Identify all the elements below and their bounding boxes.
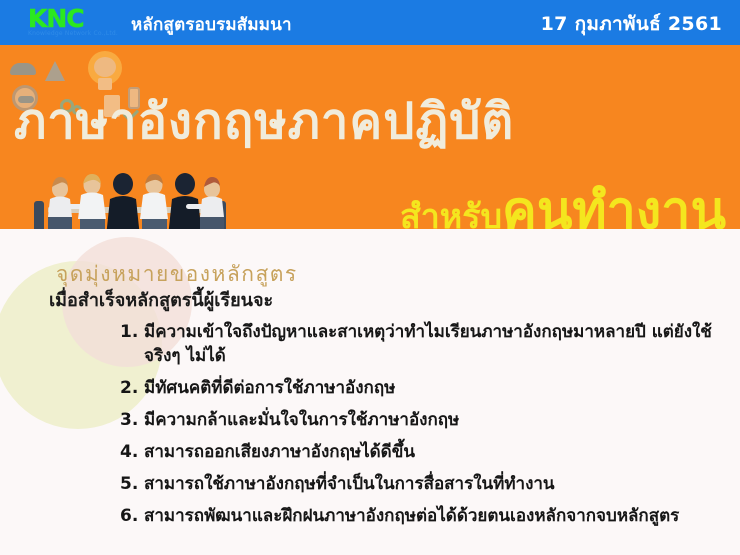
business-meeting-illustration [30,163,240,229]
objective-text: มีความกล้าและมั่นใจในการใช้ภาษาอังกฤษ [144,408,732,432]
lightbulb-brain-icon [94,57,116,77]
title-banner: ภาษาอังกฤษภาคปฏิบัติ [0,45,740,229]
objective-number: 6. [120,504,144,528]
header-bar: KNC Knowledge Network Co.,Ltd. หลักสูตรอ… [0,0,740,45]
banner-title: ภาษาอังกฤษภาคปฏิบัติ [14,97,726,146]
objective-text: มีทัศนคติที่ดีต่อการใช้ภาษาอังกฤษ [144,376,732,400]
slide-page: KNC Knowledge Network Co.,Ltd. หลักสูตรอ… [0,0,740,555]
lightbulb-base-icon [98,78,112,90]
objective-number: 3. [120,408,144,432]
logo-subtext: Knowledge Network Co.,Ltd. [28,30,120,38]
header-course-label: หลักสูตรอบรมสัมมนา [131,11,292,38]
objective-text: สามารถพัฒนาและฝึกฝนภาษาอังกฤษต่อได้ด้วยต… [144,504,732,528]
objective-item: 3.มีความกล้าและมั่นใจในการใช้ภาษาอังกฤษ [120,408,732,432]
banner-subtitle-big: คนทำงาน [502,185,726,229]
knc-logo[interactable]: KNC Knowledge Network Co.,Ltd. [28,6,120,40]
objective-number: 4. [120,440,144,464]
objective-item: 6.สามารถพัฒนาและฝึกฝนภาษาอังกฤษต่อได้ด้ว… [120,504,732,528]
objective-item: 4.สามารถออกเสียงภาษาอังกฤษได้ดีขึ้น [120,440,732,464]
objective-item: 2.มีทัศนคติที่ดีต่อการใช้ภาษาอังกฤษ [120,376,732,400]
section-lead-text: เมื่อสำเร็จหลักสูตรนี้ผู้เรียนจะ [49,285,273,314]
objective-item: 5.สามารถใช้ภาษาอังกฤษที่จำเป็นในการสื่อส… [120,472,732,496]
banner-subtitle-small: สำหรับ [400,200,502,229]
objectives-list: 1.มีความเข้าใจถึงปัญหาและสาเหตุว่าทำไมเร… [120,320,732,536]
objective-number: 2. [120,376,144,400]
objective-number: 1. [120,320,144,344]
triangle-icon [45,61,65,81]
header-date: 17 กุมภาพันธ์ 2561 [541,9,722,39]
logo-wordmark: KNC [28,6,120,31]
objective-text: สามารถออกเสียงภาษาอังกฤษได้ดีขึ้น [144,440,732,464]
objective-text: สามารถใช้ภาษาอังกฤษที่จำเป็นในการสื่อสาร… [144,472,732,496]
objective-number: 5. [120,472,144,496]
objective-item: 1.มีความเข้าใจถึงปัญหาและสาเหตุว่าทำไมเร… [120,320,732,368]
objective-text: มีความเข้าใจถึงปัญหาและสาเหตุว่าทำไมเรีย… [144,320,732,368]
cloud-icon [10,63,36,75]
banner-subtitle: สำหรับ คนทำงาน [400,185,726,229]
